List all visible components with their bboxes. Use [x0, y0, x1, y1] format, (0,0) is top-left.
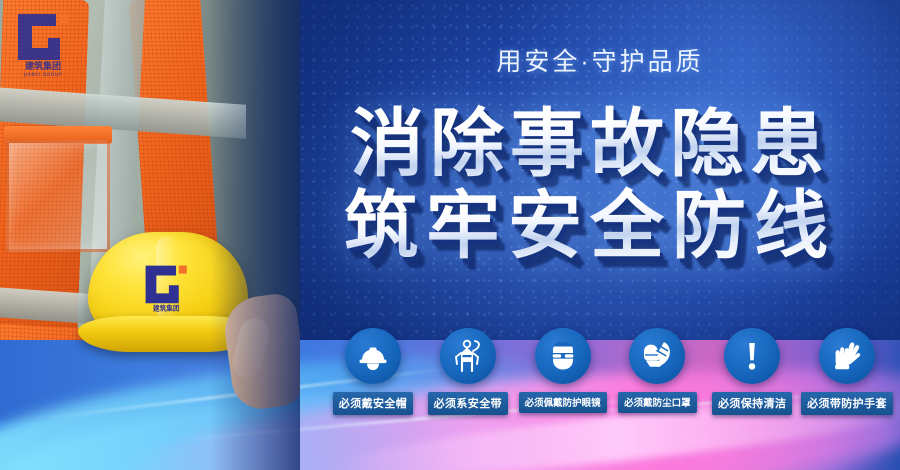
safety-gloves-icon — [819, 328, 875, 384]
poster-subtitle: 用安全·守护品质 — [300, 42, 900, 78]
safety-item-label: 必须系安全带 — [428, 392, 508, 415]
headline-line-2: 筑牢安全防线 — [280, 186, 900, 266]
safety-goggles-icon — [535, 328, 591, 384]
safety-harness-icon — [440, 328, 496, 384]
safety-item-harness[interactable]: 必须系安全带 — [425, 328, 511, 415]
brand-logo-vest: 建筑集团 JIANYI GROUP — [10, 6, 76, 78]
photo-gradient-fade — [210, 0, 300, 470]
safety-poster: 建筑集团 JIANYI GROUP 建筑集团 用安全·守护品质 消除事故隐患 筑… — [0, 0, 900, 470]
safety-item-label: 必须带防护手套 — [801, 392, 893, 415]
safety-item-label: 必须保持清洁 — [712, 392, 792, 415]
svg-text:建筑集团: 建筑集团 — [152, 303, 180, 312]
safety-item-dust-mask[interactable]: 必须戴防尘口罩 — [614, 328, 700, 415]
safety-item-goggles[interactable]: 必须佩戴防护眼镜 — [520, 328, 606, 415]
exclamation-icon — [724, 328, 780, 384]
dust-mask-icon — [629, 328, 685, 384]
svg-text:JIANYI GROUP: JIANYI GROUP — [23, 72, 63, 78]
hard-hat-icon — [345, 328, 401, 384]
safety-item-gloves[interactable]: 必须带防护手套 — [804, 328, 890, 415]
poster-headline: 消除事故隐患 筑牢安全防线 — [280, 104, 900, 266]
headline-line-1: 消除事故隐患 — [280, 104, 900, 184]
safety-item-hard-hat[interactable]: 必须戴安全帽 — [330, 328, 416, 415]
svg-text:建筑集团: 建筑集团 — [25, 60, 61, 72]
safety-item-label: 必须戴防尘口罩 — [618, 392, 697, 413]
brand-logo-helmet: 建筑集团 — [138, 262, 198, 314]
safety-item-label: 必须戴安全帽 — [333, 392, 413, 415]
safety-item-cleanliness[interactable]: 必须保持清洁 — [709, 328, 795, 415]
safety-item-label: 必须佩戴防护眼镜 — [519, 392, 607, 413]
safety-requirements-row: 必须戴安全帽 必须系安全带 — [330, 328, 890, 415]
